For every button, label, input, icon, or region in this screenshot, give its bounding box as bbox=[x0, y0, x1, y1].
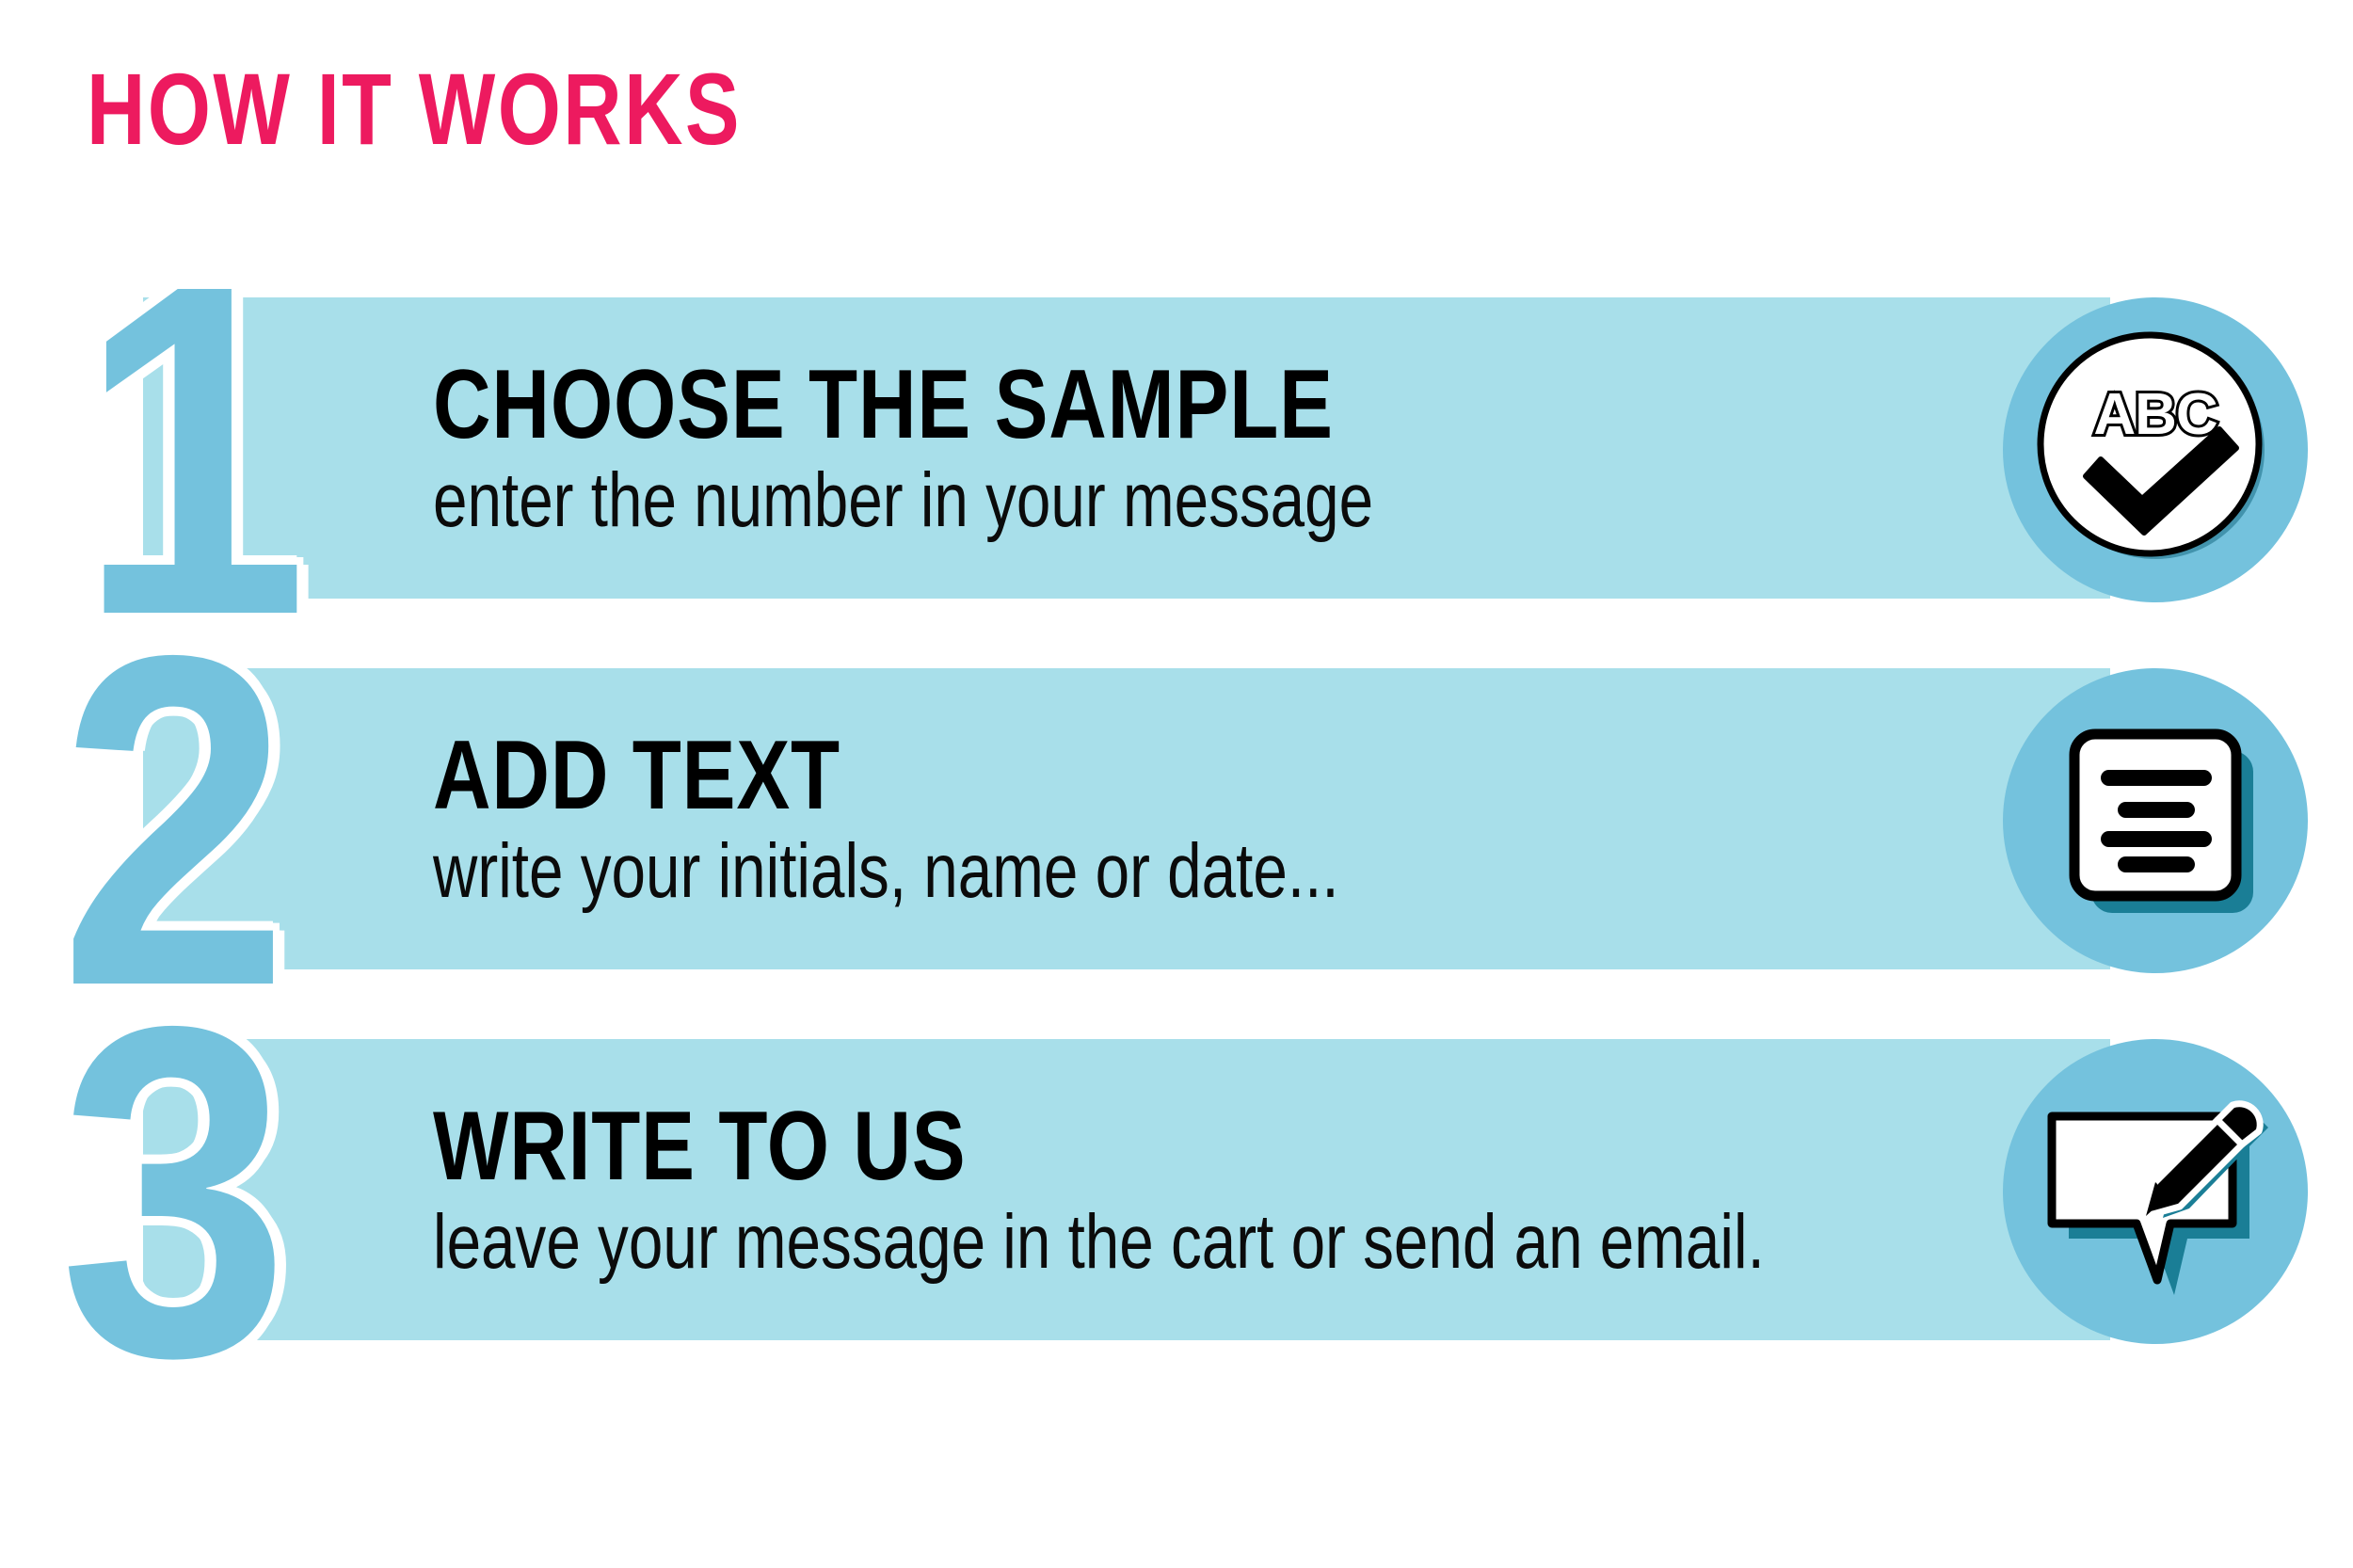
step-2-heading: ADD TEXT bbox=[433, 726, 1622, 825]
abc-icon-label: ABC bbox=[2003, 386, 2308, 444]
step-1-subtitle: enter the number in your message bbox=[433, 460, 1593, 541]
step-row-1: 1 CHOOSE THE SAMPLE enter the number in … bbox=[0, 297, 2353, 599]
step-3-subtitle: leave your message in the cart or send a… bbox=[433, 1202, 1593, 1283]
step-2-icon-medallion bbox=[2003, 668, 2308, 973]
step-3-heading: WRITE TO US bbox=[433, 1096, 1622, 1196]
speech-bubble-pencil-icon bbox=[2003, 1039, 2308, 1344]
step-2-subtitle: write your initials, name or date... bbox=[433, 831, 1593, 912]
step-3-text-block: WRITE TO US leave your message in the ca… bbox=[433, 1039, 1882, 1340]
step-1-text-block: CHOOSE THE SAMPLE enter the number in yo… bbox=[433, 297, 1882, 599]
step-2-text-block: ADD TEXT write your initials, name or da… bbox=[433, 668, 1882, 969]
step-row-3: 3 WRITE TO US leave your message in the … bbox=[0, 1039, 2353, 1340]
step-1-icon-medallion: ABC bbox=[2003, 297, 2308, 602]
infographic-canvas: HOW IT WORKS 1 CHOOSE THE SAMPLE enter t… bbox=[0, 0, 2353, 1568]
step-1-heading: CHOOSE THE SAMPLE bbox=[433, 355, 1622, 455]
step-3-icon-medallion bbox=[2003, 1039, 2308, 1344]
document-lines-icon bbox=[2003, 668, 2308, 973]
step-row-2: 2 ADD TEXT write your initials, name or … bbox=[0, 668, 2353, 969]
step-3-number: 3 bbox=[38, 928, 311, 1455]
abc-check-icon bbox=[2003, 297, 2308, 602]
page-title: HOW IT WORKS bbox=[87, 58, 742, 160]
